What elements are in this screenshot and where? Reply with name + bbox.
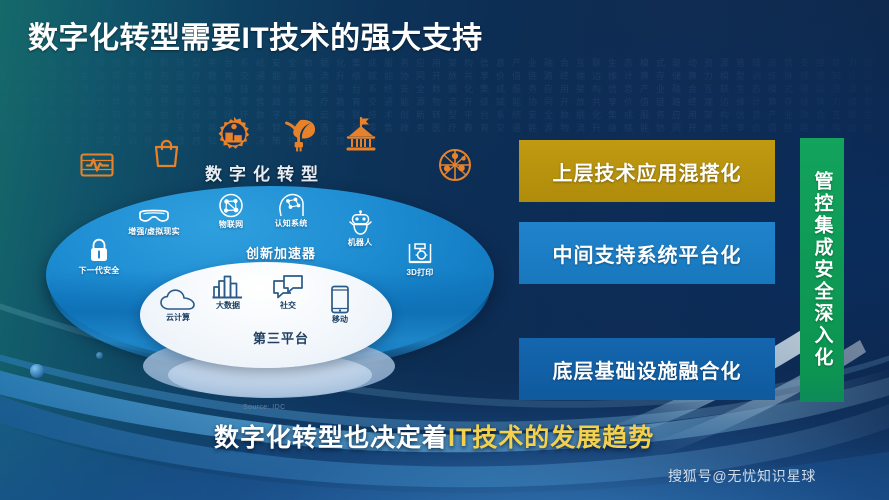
- 3d-printer-icon: [385, 242, 455, 266]
- accelerator-label: 3D打印: [406, 268, 433, 277]
- accelerator-item-cognitive[interactable]: 认知系统: [256, 192, 326, 229]
- third-platform-title: 第三平台: [196, 328, 366, 347]
- accelerator-item-next-gen-security[interactable]: 下一代安全: [64, 238, 134, 276]
- tagline-yellow-part: IT技术的发展趋势: [448, 424, 654, 452]
- accelerator-label: 增强/虚拟现实: [128, 227, 180, 236]
- platform-label: 大数据: [216, 301, 240, 310]
- platform-label: 移动: [332, 315, 348, 324]
- presentation-slide: 数字智能云网联技术创新转型平台系统安全数据化集成服务应用架构信息产业融合互联生态…: [0, 0, 889, 500]
- layer-box-top[interactable]: 上层技术应用混搭化: [519, 140, 775, 202]
- platform-label: 云计算: [166, 313, 190, 322]
- globe-network-icon: [438, 148, 472, 182]
- watermark: 搜狐号@无忧知识星球: [668, 466, 816, 486]
- chat-bubbles-icon: [271, 274, 305, 300]
- platform-label: 社交: [280, 301, 296, 310]
- layer-box-middle[interactable]: 中间支持系统平台化: [519, 222, 775, 284]
- accelerator-ring-title: 创新加速器: [196, 243, 366, 262]
- platform-item-social[interactable]: 社交: [258, 274, 318, 311]
- decorative-dot: [96, 352, 103, 359]
- accelerator-item-3d-printing[interactable]: 3D打印: [385, 242, 455, 278]
- governance-label: 管控集成安全深入化: [809, 171, 836, 369]
- slide-tagline: 数字化转型也决定着IT技术的发展趋势: [214, 418, 654, 454]
- tablet-icon: [329, 285, 351, 314]
- platform-item-mobile[interactable]: 移动: [310, 285, 370, 325]
- shopping-bag-icon: [153, 138, 180, 168]
- accelerator-label: 认知系统: [275, 219, 308, 228]
- accelerator-label: 物联网: [219, 220, 244, 229]
- bank-building-icon: [345, 116, 377, 153]
- vr-headset-icon: [119, 207, 189, 225]
- layer-label: 底层基础设施融合化: [553, 355, 742, 384]
- slide-title: 数字化转型需要IT技术的强大支持: [28, 13, 483, 57]
- governance-side-bar[interactable]: 管控集成安全深入化: [800, 138, 844, 402]
- layer-box-bottom[interactable]: 底层基础设施融合化: [519, 338, 775, 400]
- layer-label: 上层技术应用混搭化: [553, 157, 742, 186]
- layer-label: 中间支持系统平台化: [553, 239, 742, 268]
- cloud-icon: [159, 288, 197, 312]
- decorative-dot: [30, 364, 44, 378]
- digital-transformation-caption: 数字化转型: [205, 160, 325, 185]
- cognitive-brain-icon: [256, 192, 326, 217]
- robot-icon: [325, 210, 395, 236]
- source-note: Source: IDC: [243, 404, 286, 411]
- monitor-pulse-icon: [80, 152, 114, 178]
- lock-icon: [64, 238, 134, 264]
- plant-energy-icon: [283, 115, 317, 152]
- platform-item-bigdata[interactable]: 大数据: [198, 274, 258, 311]
- accelerator-label: 下一代安全: [79, 266, 120, 275]
- accelerator-item-ar-vr[interactable]: 增强/虚拟现实: [119, 207, 189, 237]
- bar-chart-icon: [211, 274, 245, 300]
- tagline-white-part: 数字化转型也决定着: [214, 424, 448, 452]
- factory-gear-icon: [216, 116, 252, 152]
